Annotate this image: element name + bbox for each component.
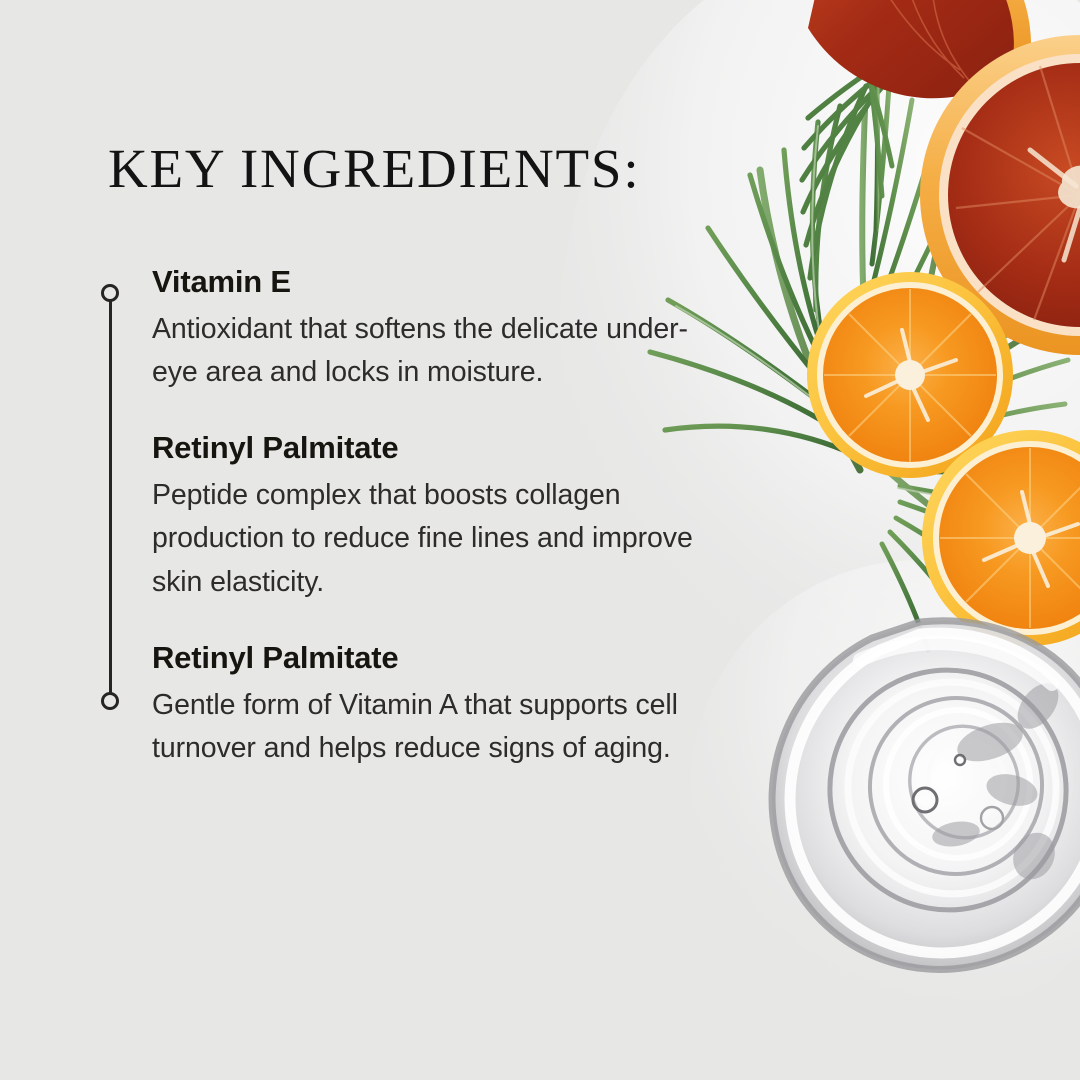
list-item: Vitamin E Antioxidant that softens the d… — [152, 262, 752, 394]
orange-slice-lower — [922, 430, 1080, 646]
orange-slice-upper — [807, 272, 1013, 478]
page-title: KEY INGREDIENTS: — [108, 141, 640, 196]
timeline-node-bottom — [101, 692, 119, 710]
list-item: Retinyl Palmitate Gentle form of Vitamin… — [152, 638, 752, 770]
ingredient-name: Vitamin E — [152, 262, 752, 302]
timeline-line — [109, 293, 112, 702]
ingredient-name: Retinyl Palmitate — [152, 428, 752, 468]
ingredient-description: Gentle form of Vitamin A that supports c… — [152, 684, 722, 771]
poster-canvas: KEY INGREDIENTS: Vitamin E Antioxidant t… — [0, 0, 1080, 1080]
grapefruit-slice-top — [808, 0, 1031, 98]
grapefruit-slice-large — [920, 35, 1080, 355]
timeline-rail — [101, 284, 121, 710]
gel-bubble — [913, 755, 1003, 829]
ingredient-description: Antioxidant that softens the delicate un… — [152, 308, 722, 395]
ingredient-name: Retinyl Palmitate — [152, 638, 752, 678]
list-item: Retinyl Palmitate Peptide complex that b… — [152, 428, 752, 604]
ingredient-description: Peptide complex that boosts collagen pro… — [152, 474, 722, 604]
timeline-node-top — [101, 284, 119, 302]
serum-gel-swatch — [772, 621, 1080, 970]
ingredient-list: Vitamin E Antioxidant that softens the d… — [152, 262, 752, 770]
